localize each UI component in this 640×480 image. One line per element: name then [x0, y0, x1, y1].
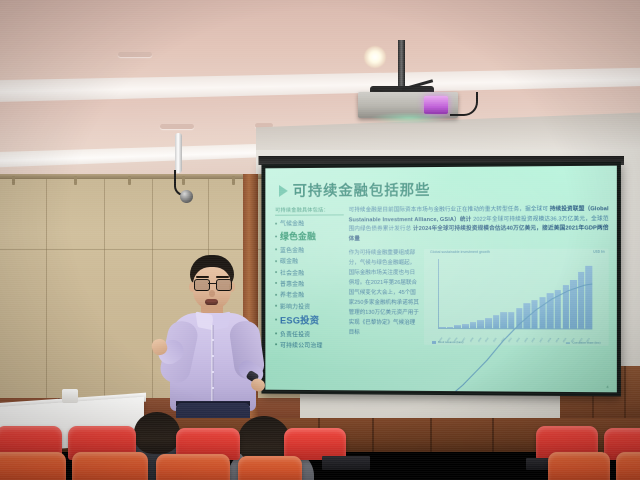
list-item: 气候金融 [275, 218, 344, 227]
bullet-dot-icon [275, 249, 277, 251]
auditorium-seat [238, 456, 302, 480]
projector-beam-glow [370, 112, 448, 124]
slide-title: 可持续金融包括那些 [293, 179, 431, 201]
bullet-dot-icon [275, 282, 277, 284]
list-item: ESG投资 [275, 313, 344, 327]
list-item-label: 负责任投资 [280, 329, 310, 338]
slide-lower-row: 作为可持续金融重要组成部分，气候与绿色金融崛起，国际金融市场关注度也与日俱增。在… [349, 249, 609, 346]
bullet-dot-icon [275, 260, 277, 262]
legend-entry-line: Cumulative share (line) [566, 342, 600, 345]
list-item: 普惠金融 [275, 279, 344, 288]
audience-laptop [322, 456, 370, 470]
glasses-icon [194, 279, 230, 289]
slide-paragraph: 可持续金融是目前国际资本市场与金融行业正在推动的重大转型任务，据全球可 持续投资… [349, 205, 609, 244]
lectern-item [62, 389, 78, 403]
slide-page-number: 4 [606, 384, 608, 389]
rail-hook [12, 176, 15, 185]
list-item-label: ESG投资 [280, 313, 319, 327]
list-item-label: 绿色金融 [280, 230, 316, 243]
list-item: 影响力投资 [275, 301, 344, 310]
list-item-label: 养老金融 [280, 290, 304, 299]
auditorium-seat [548, 452, 610, 480]
bullet-dot-icon [275, 222, 277, 224]
list-item-label: 碳金融 [280, 256, 298, 265]
list-item: 碳金融 [275, 256, 344, 265]
presenter-eyebrow [196, 276, 209, 278]
slide-side-text: 作为可持续金融重要组成部分，气候与绿色金融崛起，国际金融市场关注度也与日俱增。在… [349, 249, 420, 345]
list-item: 可持续公司治理 [275, 340, 344, 349]
rail-hook [128, 176, 131, 185]
list-item-label: 影响力投资 [280, 301, 310, 310]
lecture-hall-photo: 可持续金融包括那些 可持续金融具体包括： 气候金融 绿色金融 蓝色金融 碳金融 [0, 0, 640, 480]
rail-hook [232, 176, 235, 185]
list-item-label: 普惠金融 [280, 279, 304, 288]
chart-line-series [439, 259, 592, 392]
list-item: 负责任投资 [275, 329, 344, 338]
wood-groove [372, 418, 374, 452]
slide-bullet-column: 可持续金融具体包括： 气候金融 绿色金融 蓝色金融 碳金融 社会金融 普惠 [275, 206, 344, 351]
projection-screen: 可持续金融包括那些 可持续金融具体包括： 气候金融 绿色金融 蓝色金融 碳金融 [261, 162, 620, 397]
shirt-placket [211, 325, 214, 409]
list-item: 养老金融 [275, 290, 344, 299]
panel-seam [104, 176, 105, 398]
triangle-bullet-icon [279, 184, 288, 196]
slide-body: 可持续金融具体包括： 气候金融 绿色金融 蓝色金融 碳金融 社会金融 普惠 [275, 205, 609, 353]
list-item: 绿色金融 [275, 230, 344, 243]
bar-chart: Global sustainable investment growth USD… [424, 249, 609, 346]
bullet-dot-icon [275, 319, 277, 321]
bullet-column-heading: 可持续金融具体包括： [275, 206, 344, 215]
ceiling-vent [118, 52, 152, 57]
list-item: 社会金融 [275, 268, 344, 277]
ceiling-lamp-glow [364, 46, 386, 68]
auditorium-seat [72, 452, 148, 480]
screen-surface: 可持续金融包括那些 可持续金融具体包括： 气候金融 绿色金融 蓝色金融 碳金融 [265, 166, 617, 393]
auditorium-seat [156, 454, 230, 480]
bullet-dot-icon [275, 305, 277, 307]
list-item-label: 社会金融 [280, 268, 304, 277]
glasses-lens [216, 279, 232, 291]
ceiling-vent [160, 124, 194, 129]
audience-head [134, 412, 180, 454]
bullet-dot-icon [275, 271, 277, 273]
presenter-eyebrow [216, 276, 229, 278]
presentation-slide: 可持续金融包括那些 可持续金融具体包括： 气候金融 绿色金融 蓝色金融 碳金融 [265, 166, 617, 393]
panel-seam [46, 176, 47, 398]
wood-groove [430, 418, 432, 452]
wood-groove [492, 418, 494, 452]
bullet-dot-icon [275, 332, 277, 334]
glasses-bridge [208, 283, 216, 284]
rail-hook [74, 176, 77, 185]
auditorium-seat [0, 452, 66, 480]
bullet-dot-icon [275, 344, 277, 346]
bullet-dot-icon [275, 235, 277, 237]
projector-pole [398, 40, 405, 92]
legend-entry-bar: Bond issuance (bars) [432, 341, 463, 344]
chart-subtitle: USD bn [593, 250, 604, 254]
chart-title: Global sustainable investment growth [430, 250, 490, 254]
slide-right-column: 可持续金融是目前国际资本市场与金融行业正在推动的重大转型任务，据全球可 持续投资… [349, 205, 609, 353]
paragraph-lead: 可持续金融是目前国际资本市场与金融行业正在推动的重大转型任务，据全球可 [349, 206, 548, 213]
microphone-capsule [180, 190, 193, 203]
list-item: 蓝色金融 [275, 245, 344, 254]
bullet-dot-icon [275, 294, 277, 296]
presenter-nose [209, 290, 215, 297]
chart-plot-area: 2004200520062007200820092010201120122013… [438, 259, 592, 330]
legend-swatch-icon [566, 343, 570, 344]
glasses-lens [194, 279, 210, 291]
presenter [150, 255, 275, 440]
auditorium-seat [616, 452, 640, 480]
slide-title-row: 可持续金融包括那些 [279, 178, 609, 201]
list-item-label: 气候金融 [280, 219, 304, 228]
hanging-microphone-icon [175, 133, 182, 173]
list-item-label: 蓝色金融 [280, 245, 304, 254]
list-item-label: 可持续公司治理 [280, 340, 323, 349]
legend-swatch-icon [432, 341, 436, 344]
